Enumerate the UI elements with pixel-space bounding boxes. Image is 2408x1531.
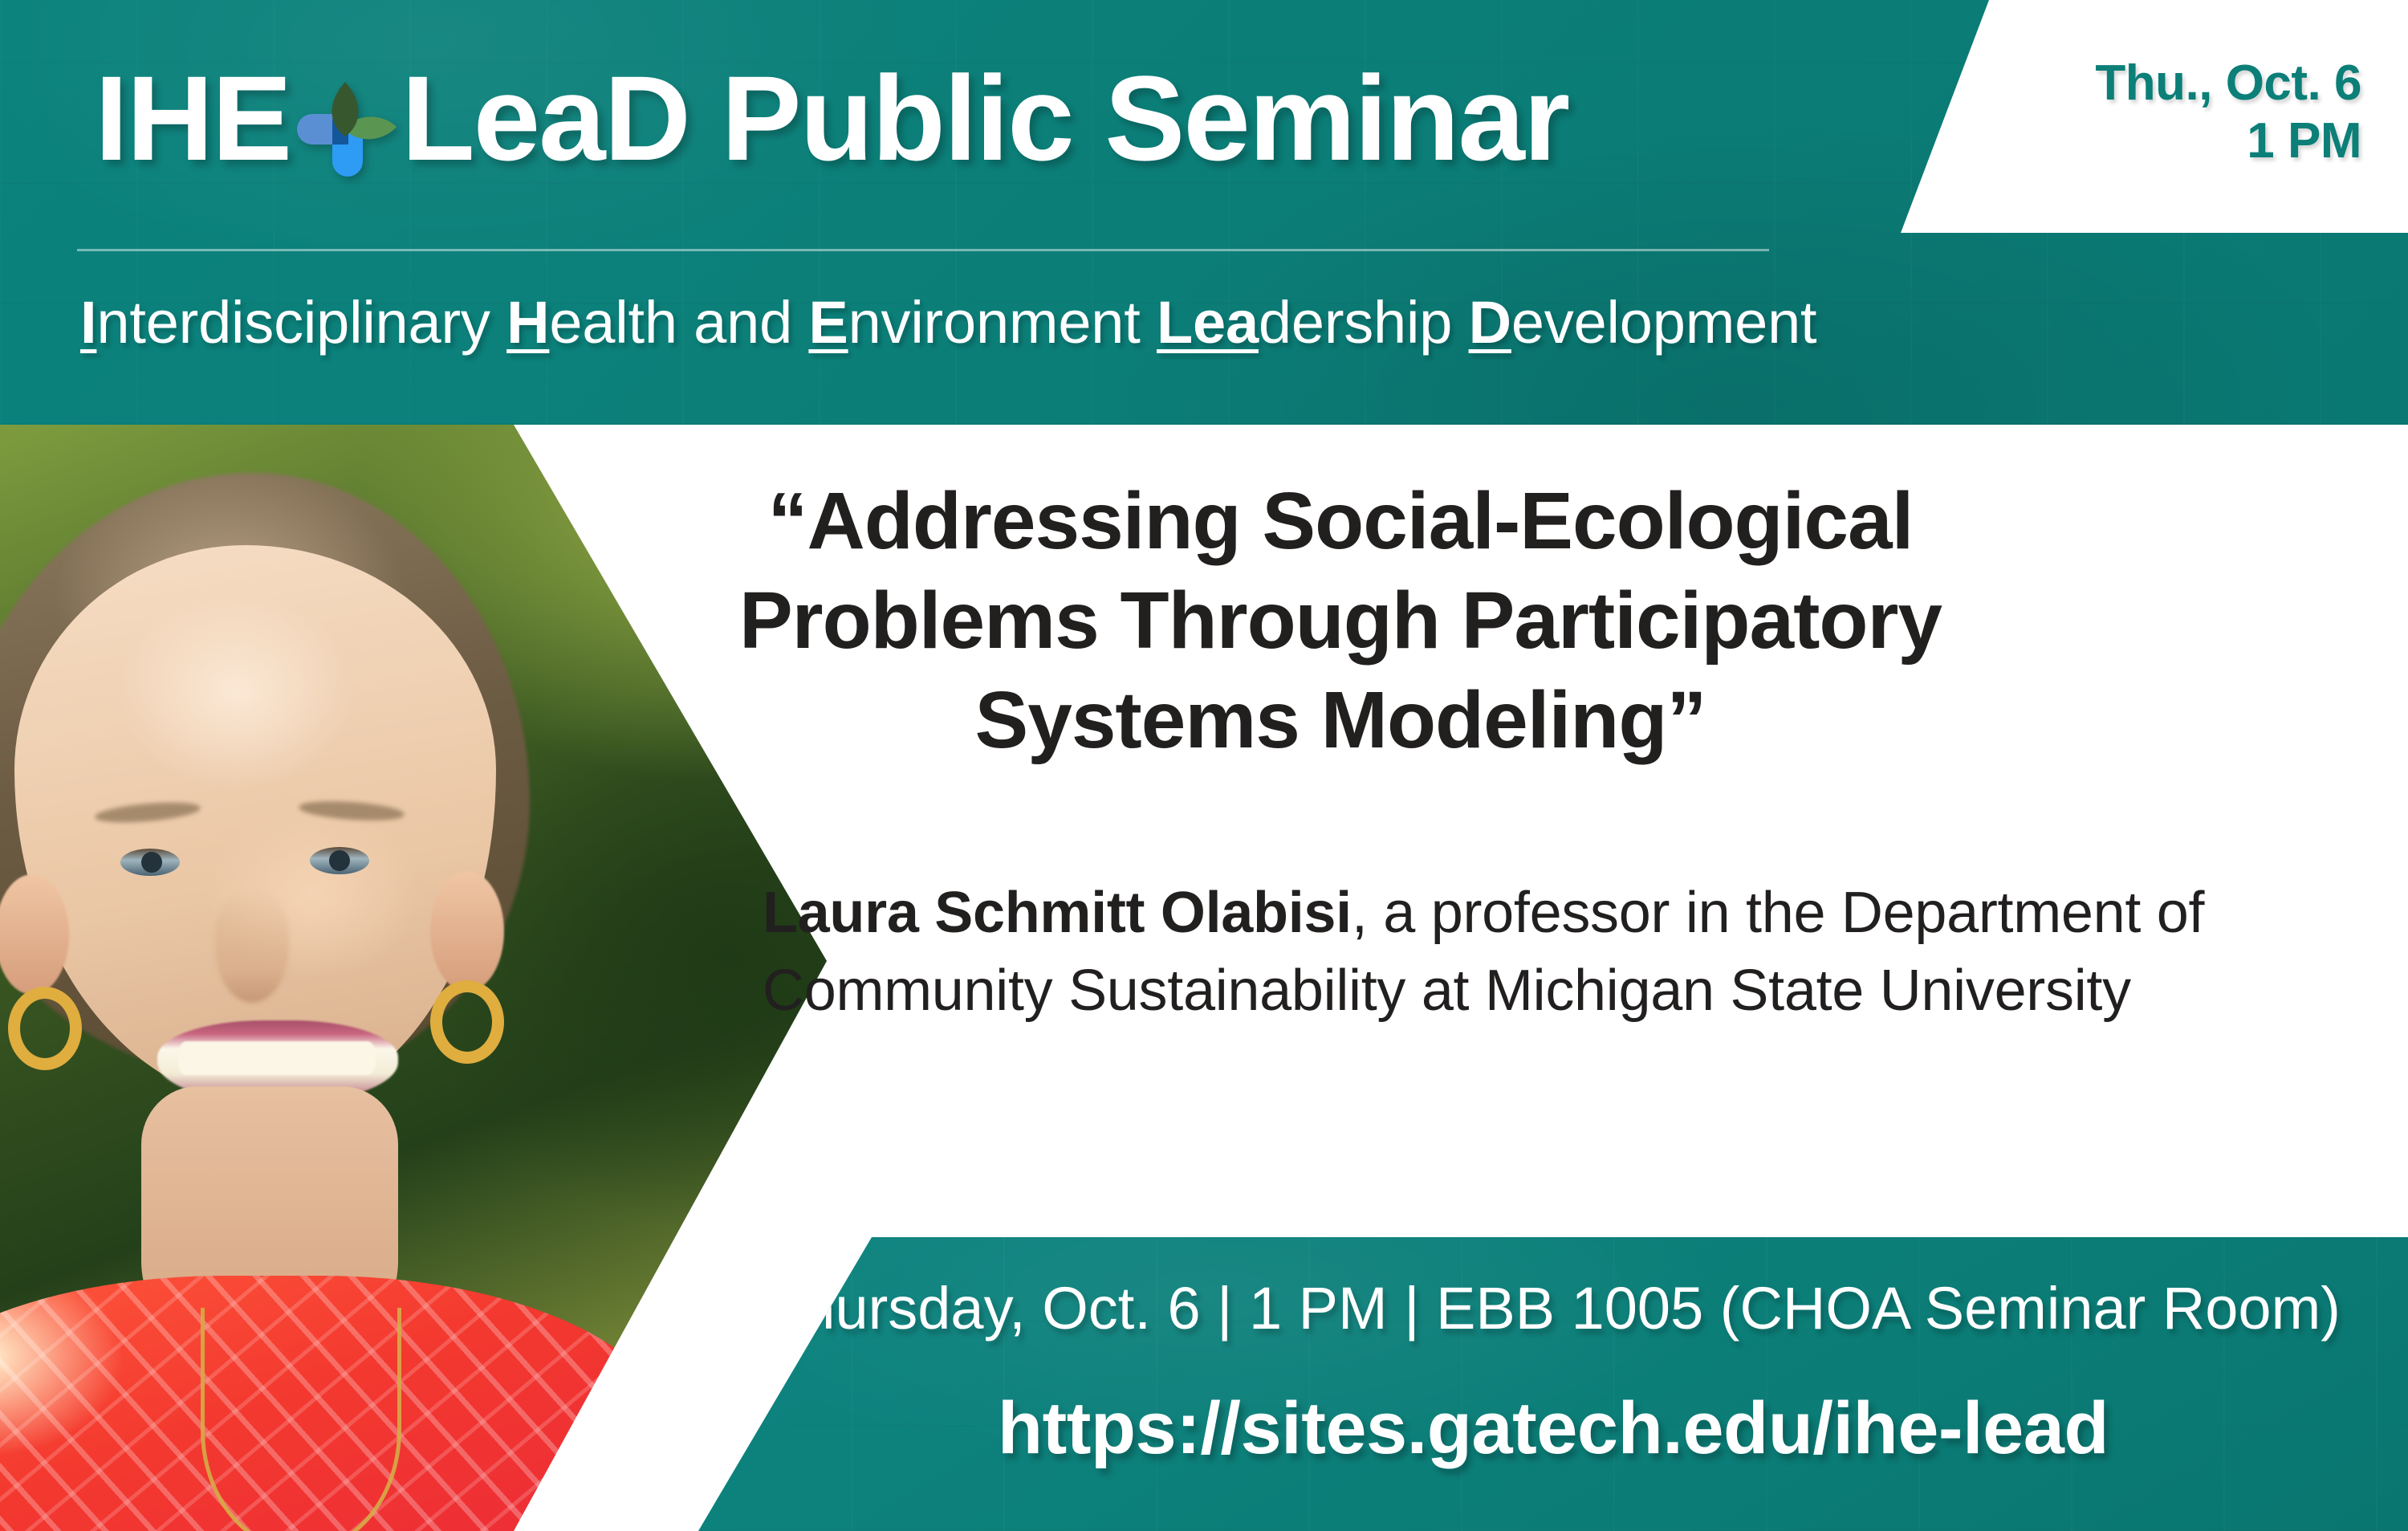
subtitle-acronym-letter: E bbox=[808, 289, 848, 356]
subtitle-segment: nvironment bbox=[848, 289, 1157, 356]
four-petal-plus-leaf-logo-icon bbox=[295, 77, 398, 180]
header-banner: Thu., Oct. 6 1 PM IHE LeaD bbox=[0, 0, 2408, 425]
subtitle-segment: evelopment bbox=[1511, 289, 1817, 356]
photo-necklace bbox=[201, 1308, 401, 1531]
date-line-time: 1 PM bbox=[2247, 112, 2361, 170]
subtitle-segment: nterdisciplinary bbox=[96, 289, 506, 356]
speaker-name: Laura Schmitt Olabisi bbox=[763, 881, 1352, 945]
subtitle-acronym-letter: Lea bbox=[1157, 289, 1259, 356]
photo-earring-right bbox=[430, 980, 504, 1064]
subtitle-text: Interdisciplinary Health and Environment… bbox=[80, 289, 1816, 356]
footer-banner: Thursday, Oct. 6 | 1 PM | EBB 1005 (CHOA… bbox=[698, 1237, 2408, 1531]
subtitle-segment: ealth and bbox=[549, 289, 808, 356]
header-divider bbox=[77, 249, 1769, 251]
photo-earring-left bbox=[8, 987, 82, 1070]
page-title: “Addressing Social-Ecological Problems T… bbox=[618, 471, 2063, 770]
date-line-day: Thu., Oct. 6 bbox=[2095, 55, 2361, 112]
content-panel: “Addressing Social-Ecological Problems T… bbox=[827, 425, 2408, 1237]
subtitle-acronym-letter: H bbox=[506, 289, 549, 356]
seminar-flyer: Thu., Oct. 6 1 PM IHE LeaD bbox=[0, 0, 2408, 1531]
photo-teeth bbox=[178, 1041, 376, 1075]
subtitle-acronym-letter: D bbox=[1469, 289, 1511, 356]
speaker-bio: Laura Schmitt Olabisi, a professor in th… bbox=[763, 874, 2280, 1030]
event-url[interactable]: https://sites.gatech.edu/ihe-lead bbox=[698, 1391, 2408, 1465]
photo-nose bbox=[215, 890, 289, 1003]
photo-pupil-left bbox=[141, 852, 162, 873]
photo-ear-right bbox=[430, 871, 504, 991]
date-plate: Thu., Oct. 6 1 PM bbox=[1894, 0, 2408, 233]
subtitle-segment: dership bbox=[1259, 289, 1469, 356]
event-details: Thursday, Oct. 6 | 1 PM | EBB 1005 (CHOA… bbox=[698, 1279, 2408, 1338]
subtitle-acronym-letter: I bbox=[80, 289, 96, 356]
header-subtitle: Interdisciplinary Health and Environment… bbox=[80, 287, 1816, 359]
brand-lockup: IHE LeaD Public Seminar bbox=[95, 42, 1568, 194]
brand-acronym: IHE bbox=[95, 58, 291, 178]
brand-title: LeaD Public Seminar bbox=[401, 58, 1568, 178]
photo-pupil-right bbox=[329, 850, 350, 871]
